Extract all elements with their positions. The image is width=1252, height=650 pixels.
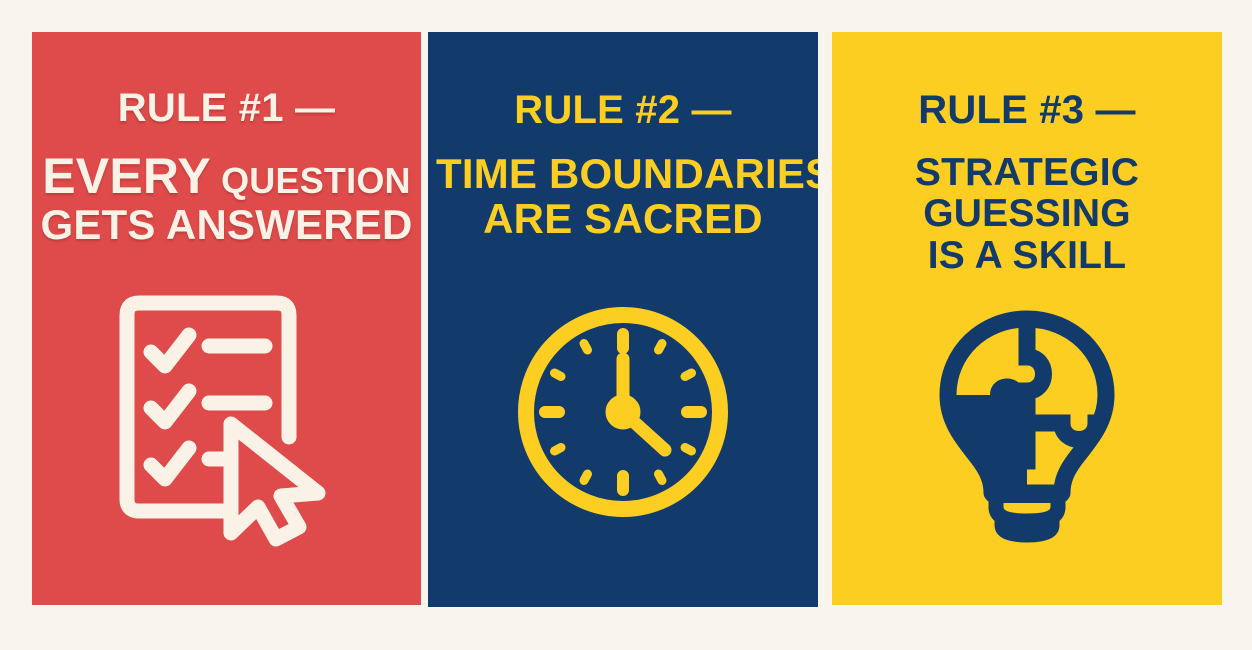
rule-2-label: RULE #2 — (428, 90, 818, 130)
rule-card-3[interactable]: RULE #3 — STRATEGIC GUESSING IS A SKILL (832, 32, 1222, 605)
rule-2-headline-line-2: ARE SACRED (428, 197, 818, 242)
rule-3-headline-line-2: GUESSING (832, 193, 1222, 234)
rule-3-headline-line-3: IS A SKILL (832, 235, 1222, 276)
rule-card-2[interactable]: RULE #2 — TIME BOUNDARIES ARE SACRED (428, 32, 818, 607)
rule-2-headline-line-1: TIME BOUNDARIES (428, 152, 818, 197)
rule-2-icon-area (428, 241, 818, 607)
rule-1-headline-line-2: GETS ANSWERED (32, 203, 421, 248)
rule-1-label: RULE #1 — (32, 88, 421, 128)
rule-3-icon-area (832, 276, 1222, 605)
rule-3-headline-line-1: STRATEGIC (832, 152, 1222, 193)
rule-1-headline-line-1-rest (211, 160, 221, 201)
lightbulb-puzzle-icon (932, 311, 1122, 541)
rule-card-1[interactable]: RULE #1 — EVERY QUESTION GETS ANSWERED (32, 32, 421, 605)
rules-card-board: RULE #1 — EVERY QUESTION GETS ANSWERED (0, 0, 1252, 650)
checklist-cursor-icon (113, 289, 341, 539)
rule-1-headline-line-1: EVERY QUESTION (32, 150, 421, 203)
rule-1-icon-area (32, 248, 421, 605)
rule-1-headline-word-question: QUESTION (221, 160, 411, 201)
clock-icon (513, 302, 733, 522)
rule-1-emphasis-word: EVERY (42, 148, 211, 204)
rule-3-label: RULE #3 — (832, 90, 1222, 130)
